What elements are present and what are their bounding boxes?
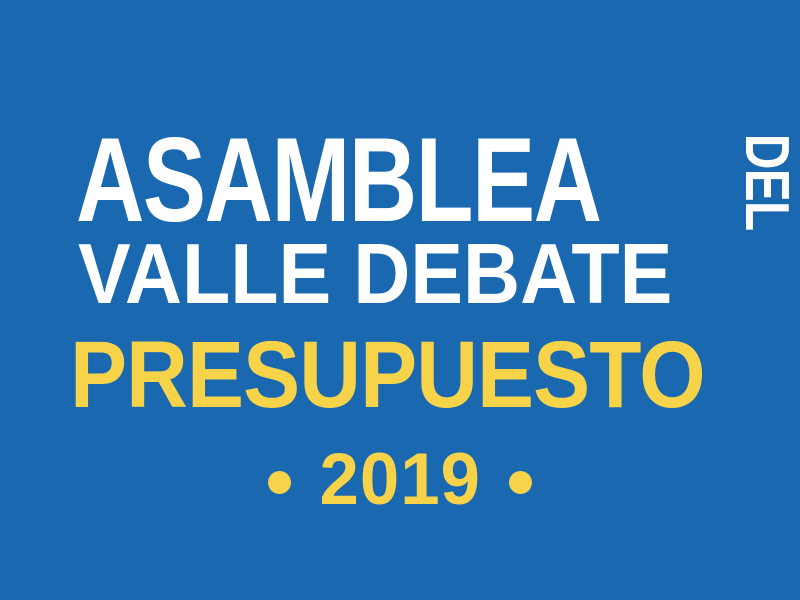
poster-banner: ASAMBLEA DEL VALLE DEBATE PRESUPUESTO 20… [0, 0, 800, 600]
headline-line-asamblea: ASAMBLEA DEL [76, 128, 724, 232]
headline-line-valle-debate: VALLE DEBATE [78, 236, 724, 314]
headline-word-presupuesto: PRESUPUESTO [70, 332, 705, 418]
headline-word-del: DEL [738, 134, 794, 231]
headline-line-presupuesto: PRESUPUESTO [70, 332, 734, 418]
bullet-dot-right-icon [509, 471, 532, 494]
headline-word-valle-debate: VALLE DEBATE [78, 236, 672, 314]
headline-word-asamblea: ASAMBLEA [76, 128, 601, 232]
bullet-dot-left-icon [268, 471, 291, 494]
headline-line-year: 2019 [0, 444, 800, 516]
headline-year-value: 2019 [319, 444, 480, 516]
headline-word-del-container: DEL [738, 136, 794, 228]
